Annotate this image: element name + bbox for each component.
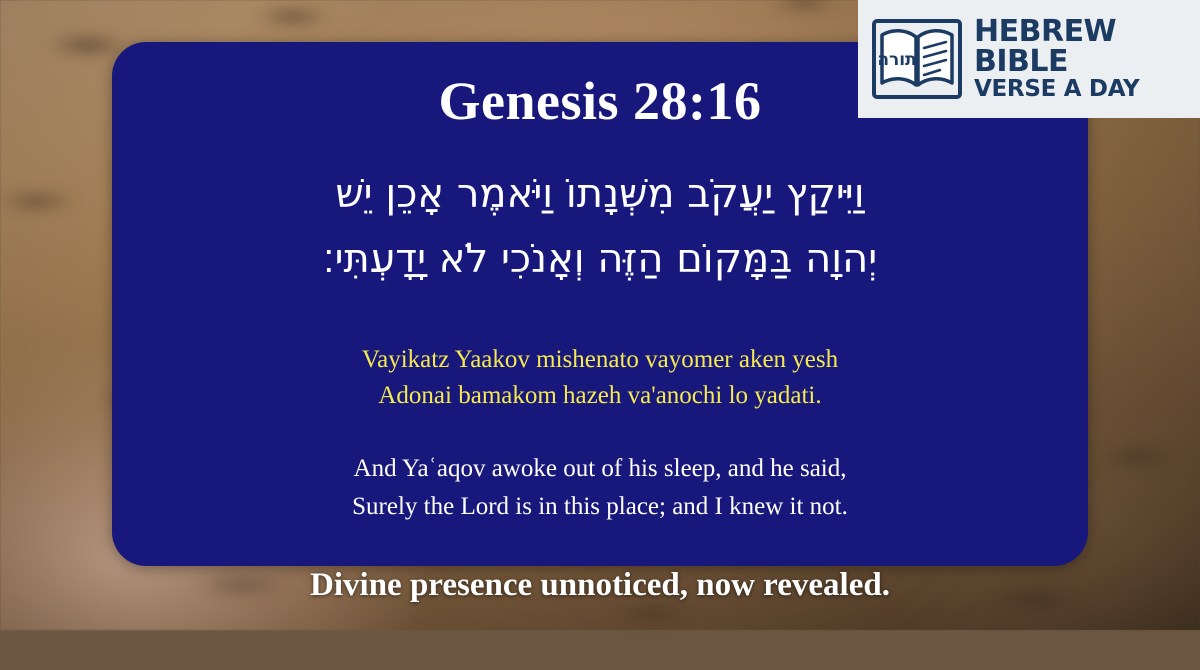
- transliteration-text: Vayikatz Yaakov mishenato vayomer aken y…: [172, 342, 1028, 415]
- hebrew-line-1: וַיִּיקַץ יַעֲקֹב מִשְּׁנָתוֹ וַיֹּאמֶר …: [152, 162, 1048, 227]
- transliteration-line-2: Adonai bamakom hazeh va'anochi lo yadati…: [172, 378, 1028, 414]
- verse-summary: Divine presence unnoticed, now revealed.: [0, 567, 1200, 604]
- translation-text: And Yaʿaqov awoke out of his sleep, and …: [172, 450, 1028, 525]
- logo-wordmark: HEBREW BIBLE VERSE A DAY: [974, 17, 1139, 102]
- hebrew-line-2: יְהוָה בַּמָּקוֹם הַזֶּה וְאָנֹכִי לֹא י…: [152, 227, 1048, 292]
- open-book-icon: תורה: [872, 15, 962, 103]
- logo-line-3: VERSE A DAY: [974, 78, 1139, 101]
- logo-badge[interactable]: תורה HEBREW BIBLE VERSE A DAY: [858, 0, 1200, 118]
- verse-card: Genesis 28:16 וַיִּיקַץ יַעֲקֹב מִשְּׁנָ…: [112, 42, 1088, 566]
- transliteration-line-1: Vayikatz Yaakov mishenato vayomer aken y…: [172, 342, 1028, 378]
- translation-line-1: And Yaʿaqov awoke out of his sleep, and …: [172, 450, 1028, 488]
- translation-line-2: Surely the Lord is in this place; and I …: [172, 488, 1028, 526]
- hebrew-word-torah: תורה: [877, 50, 916, 70]
- hebrew-verse-text: וַיִּיקַץ יַעֲקֹב מִשְּׁנָתוֹ וַיֹּאמֶר …: [152, 162, 1048, 292]
- logo-line-2: BIBLE: [974, 47, 1139, 78]
- logo-line-1: HEBREW: [974, 17, 1139, 48]
